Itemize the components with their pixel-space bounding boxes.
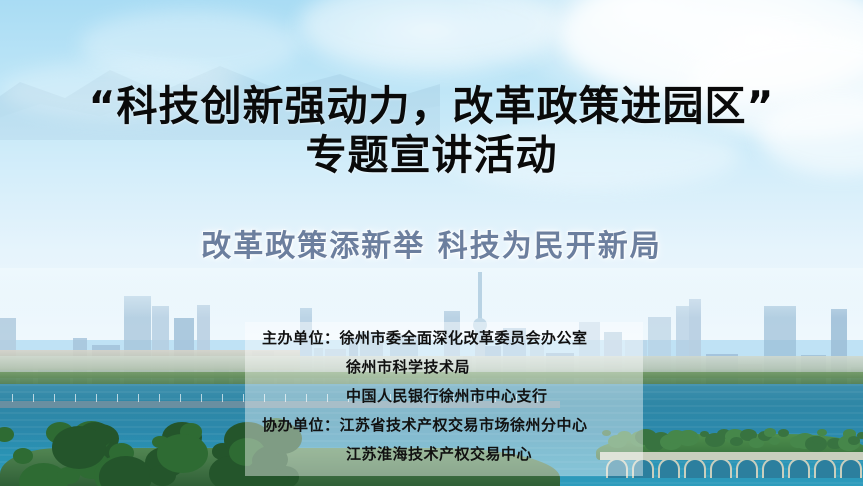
bridge-arch <box>684 458 706 478</box>
organizer-line-host-3: 中国人民银行徐州市中心支行 <box>262 382 662 411</box>
bridge-lamp <box>12 394 13 402</box>
tree <box>817 429 827 436</box>
tree <box>764 428 776 437</box>
event-poster: “科技创新强动力，改革政策进园区” 专题宣讲活动 改革政策添新举 科技为民开新局… <box>0 0 863 486</box>
bridge-arch <box>788 458 810 478</box>
bridge-arch <box>736 458 758 478</box>
tree <box>688 436 696 442</box>
organizer-line-coorg-2: 江苏淮海技术产权交易中心 <box>262 440 662 469</box>
tree <box>0 427 14 442</box>
bridge-lamp <box>159 394 160 402</box>
page-title: “科技创新强动力，改革政策进园区” 专题宣讲活动 <box>0 82 863 180</box>
bridge-lamp <box>138 394 139 402</box>
organizer-line-coorg-1: 协办单位：江苏省技术产权交易市场徐州分中心 <box>262 411 662 440</box>
bridge-arch <box>762 458 784 478</box>
bridge-lamp <box>96 394 97 402</box>
poster-subtitle: 改革政策添新举 科技为民开新局 <box>0 221 863 265</box>
bridge-lamp <box>117 394 118 402</box>
bridge-lamp <box>33 394 34 402</box>
tv-tower-spire-icon <box>478 272 482 324</box>
tree <box>52 426 106 468</box>
bridge-lamp <box>222 394 223 402</box>
tree <box>99 456 153 486</box>
organizer-block: 主办单位：徐州市委全面深化改革委员会办公室 徐州市科学技术局 中国人民银行徐州市… <box>262 324 662 469</box>
tree <box>857 432 863 439</box>
bridge-lamp <box>75 394 76 402</box>
bridge-arch <box>710 458 732 478</box>
tree <box>157 434 208 473</box>
tree <box>24 468 48 486</box>
bridge-lamp <box>54 394 55 402</box>
tree <box>13 448 33 464</box>
bridge-arch <box>814 458 836 478</box>
bridge-arch <box>840 458 862 478</box>
bridge-lamp <box>180 394 181 402</box>
organizer-line-host-1: 主办单位：徐州市委全面深化改革委员会办公室 <box>262 324 662 353</box>
organizer-line-host-2: 徐州市科学技术局 <box>262 353 662 382</box>
bridge-lamp <box>243 394 244 402</box>
bridge-lamp <box>201 394 202 402</box>
